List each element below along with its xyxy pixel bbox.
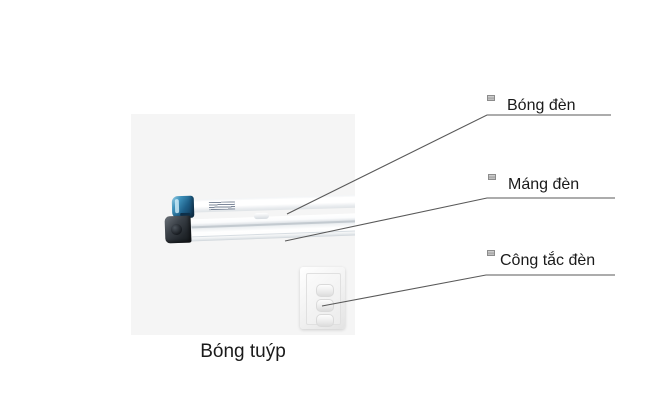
diagram-canvas: Bóng tuýp Bóng đèn Máng đèn Công tắc đèn [0, 0, 657, 402]
anchor-handle-icon-bong-den[interactable] [487, 95, 495, 101]
leader-line-cong-tac-den [322, 275, 615, 306]
figure-caption: Bóng tuýp [131, 341, 355, 363]
fixture-end-cap [165, 216, 192, 244]
product-photo-panel [131, 114, 355, 335]
switch-rocker-1 [316, 284, 334, 297]
anchor-handle-icon-cong-tac-den[interactable] [487, 250, 495, 256]
callout-label-bong-den[interactable]: Bóng đèn [507, 97, 576, 115]
channel-groove-upper [192, 220, 355, 228]
fluorescent-tube [179, 195, 355, 213]
wall-light-switch [300, 267, 345, 329]
switch-rocker-3 [316, 314, 334, 327]
switch-rocker-2 [316, 299, 334, 312]
callout-label-cong-tac-den[interactable]: Công tắc đèn [500, 252, 595, 270]
tube-print-label [209, 201, 235, 210]
channel-groove-lower [192, 230, 355, 237]
tube-retaining-clip [254, 213, 269, 220]
switch-inner-frame [306, 273, 341, 325]
fixture-end-cap-socket [171, 224, 182, 235]
anchor-handle-icon-mang-den[interactable] [488, 174, 496, 180]
tube-end-cap-highlight [175, 199, 179, 213]
callout-label-mang-den[interactable]: Máng đèn [508, 176, 579, 194]
